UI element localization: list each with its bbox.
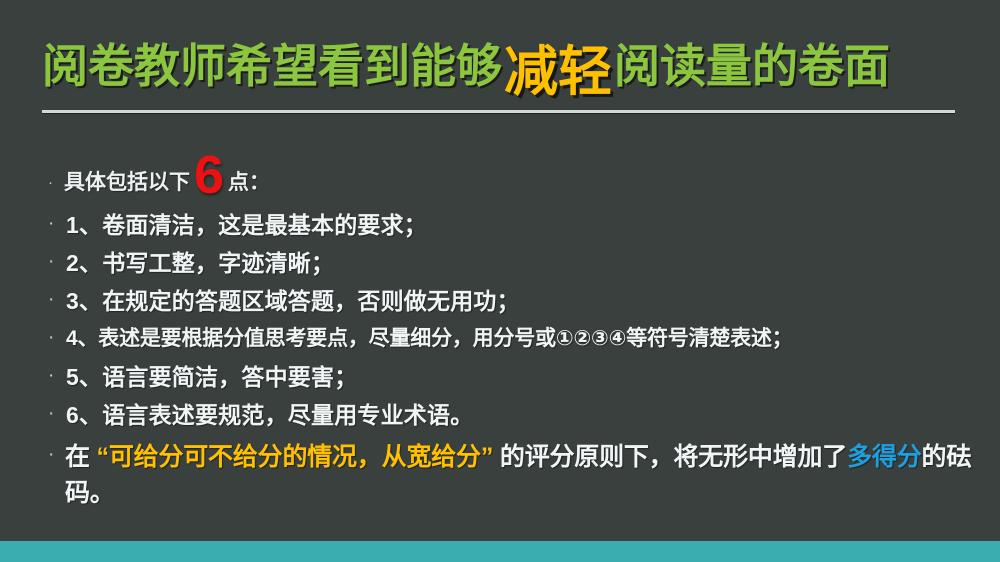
intro-prefix: 具体包括以下	[64, 166, 190, 196]
closing-quote: “可给分可不给分的情况，从宽给分”	[97, 443, 494, 471]
list-item-label: 5、语言要简洁，答中要害；	[66, 358, 357, 392]
closing-paragraph: · 在 “可给分可不给分的情况，从宽给分” 的评分原则下，将无形中增加了多得分的…	[48, 440, 993, 511]
intro-count: 6	[190, 153, 228, 199]
slide-canvas: 阅卷教师希望看到能够减轻阅读量的卷面 · 具体包括以下 6 点： · 1、卷面清…	[0, 0, 1000, 562]
list-item-label: 2、书写工整，字迹清晰；	[66, 244, 334, 278]
bullet-icon: ·	[48, 328, 66, 347]
list-item: · 3、在规定的答题区域答题，否则做无用功；	[48, 280, 988, 318]
footer-accent-bar	[0, 541, 1000, 562]
bullet-icon: ·	[48, 404, 66, 423]
list-item-label: 3、在规定的答题区域答题，否则做无用功；	[66, 282, 520, 316]
list-item: · 1、卷面清洁，这是最基本的要求；	[48, 204, 988, 242]
intro-suffix: 点：	[228, 166, 270, 196]
list-item: · 2、书写工整，字迹清晰；	[48, 242, 988, 280]
closing-segment-2: 的评分原则下，将无形中增加了	[493, 443, 847, 471]
intro-line: · 具体包括以下 6 点：	[48, 152, 988, 196]
title-divider	[42, 110, 955, 113]
title-segment-accent: 减轻	[502, 27, 614, 106]
closing-row: · 在 “可给分可不给分的情况，从宽给分” 的评分原则下，将无形中增加了多得分的…	[48, 440, 993, 511]
page-title: 阅卷教师希望看到能够减轻阅读量的卷面	[42, 30, 972, 102]
list-item: · 5、语言要简洁，答中要害；	[48, 356, 988, 394]
closing-text: 在 “可给分可不给分的情况，从宽给分” 的评分原则下，将无形中增加了多得分的砝码…	[65, 440, 993, 511]
title-segment-leading: 阅卷教师希望看到能够	[42, 43, 502, 89]
bullet-icon: ·	[48, 252, 66, 271]
body-content: · 具体包括以下 6 点： · 1、卷面清洁，这是最基本的要求； · 2、书写工…	[48, 152, 988, 432]
bullet-icon: ·	[48, 175, 64, 190]
list-item: · 4、表述是要根据分值思考要点，尽量细分，用分号或①②③④等符号清楚表述；	[48, 318, 988, 356]
bullet-icon: ·	[48, 366, 66, 385]
list-item: · 6、语言表述要规范，尽量用专业术语。	[48, 394, 988, 432]
list-item-label: 1、卷面清洁，这是最基本的要求；	[66, 206, 427, 240]
closing-segment-1: 在	[65, 443, 97, 471]
list-item-label: 4、表述是要根据分值思考要点，尽量细分，用分号或①②③④等符号清楚表述；	[66, 322, 793, 352]
title-segment-trailing: 阅读量的卷面	[614, 43, 890, 89]
bullet-icon: ·	[48, 214, 66, 233]
closing-highlight: 多得分	[847, 443, 921, 471]
bullet-icon: ·	[48, 290, 66, 309]
bullet-icon: ·	[48, 440, 65, 470]
list-item-label: 6、语言表述要规范，尽量用专业术语。	[66, 396, 473, 430]
